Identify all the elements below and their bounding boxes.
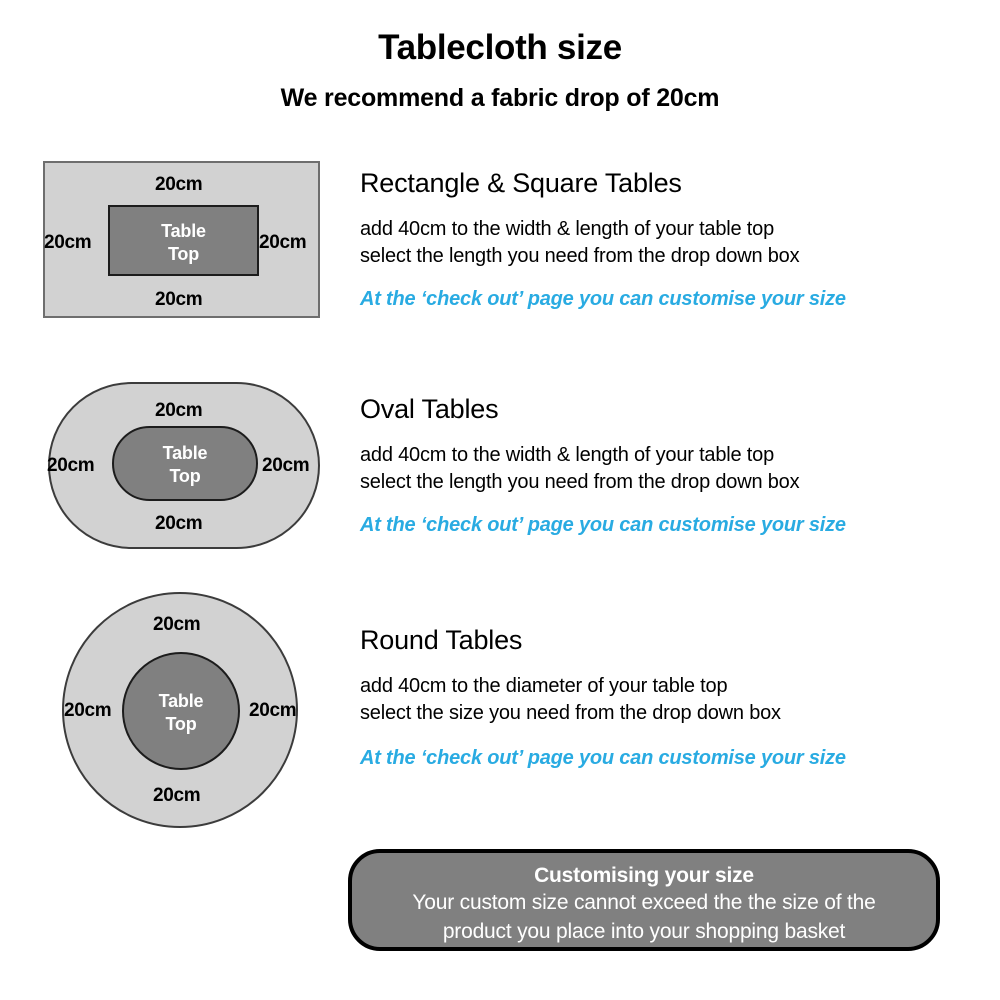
section-checkout-note: At the ‘check out’ page you can customis… [360,288,980,311]
section-round-tables: Round Tables add 40cm to the diameter of… [360,625,980,770]
callout-line-1: Your custom size cannot exceed the the s… [352,888,936,917]
table-top-line-2: Top [169,466,200,486]
section-checkout-note: At the ‘check out’ page you can customis… [360,747,980,770]
rectangle-table-top-shape: Table Top [108,205,259,276]
section-checkout-note: At the ‘check out’ page you can customis… [360,514,980,537]
page-title: Tablecloth size [0,28,1000,68]
section-title: Rectangle & Square Tables [360,168,980,199]
rectangle-drop-label-top: 20cm [155,174,202,196]
section-line-2: select the length you need from the drop… [360,243,980,270]
infographic-page: Tablecloth size We recommend a fabric dr… [0,0,1000,1000]
section-line-1: add 40cm to the width & length of your t… [360,216,980,243]
page-subtitle: We recommend a fabric drop of 20cm [0,84,1000,113]
round-drop-label-left: 20cm [64,700,111,722]
callout-line-2: product you place into your shopping bas… [352,917,936,946]
round-drop-label-right: 20cm [249,700,296,722]
section-rectangle-square-tables: Rectangle & Square Tables add 40cm to th… [360,168,980,311]
section-title: Oval Tables [360,394,980,425]
section-line-1: add 40cm to the width & length of your t… [360,442,980,469]
section-line-2: select the size you need from the drop d… [360,700,980,727]
section-line-2: select the length you need from the drop… [360,469,980,496]
rectangle-table-top-label: Table Top [110,220,257,266]
section-oval-tables: Oval Tables add 40cm to the width & leng… [360,394,980,537]
oval-drop-label-right: 20cm [262,455,309,477]
rectangle-drop-label-right: 20cm [259,232,306,254]
table-top-line-1: Table [161,221,206,241]
round-drop-label-top: 20cm [153,614,200,636]
round-table-top-shape: Table Top [122,652,240,770]
oval-drop-label-left: 20cm [47,455,94,477]
table-top-line-2: Top [168,244,199,264]
oval-table-top-label: Table Top [114,442,256,488]
rectangle-drop-label-left: 20cm [44,232,91,254]
table-top-line-1: Table [159,691,204,711]
oval-drop-label-top: 20cm [155,400,202,422]
section-line-1: add 40cm to the diameter of your table t… [360,673,980,700]
oval-drop-label-bottom: 20cm [155,513,202,535]
round-drop-label-bottom: 20cm [153,785,200,807]
rectangle-drop-label-bottom: 20cm [155,289,202,311]
section-title: Round Tables [360,625,980,656]
round-table-top-label: Table Top [124,690,238,736]
oval-table-top-shape: Table Top [112,426,258,501]
customising-your-size-callout: Customising your size Your custom size c… [348,849,940,951]
callout-title: Customising your size [352,864,936,888]
table-top-line-1: Table [163,443,208,463]
table-top-line-2: Top [165,714,196,734]
